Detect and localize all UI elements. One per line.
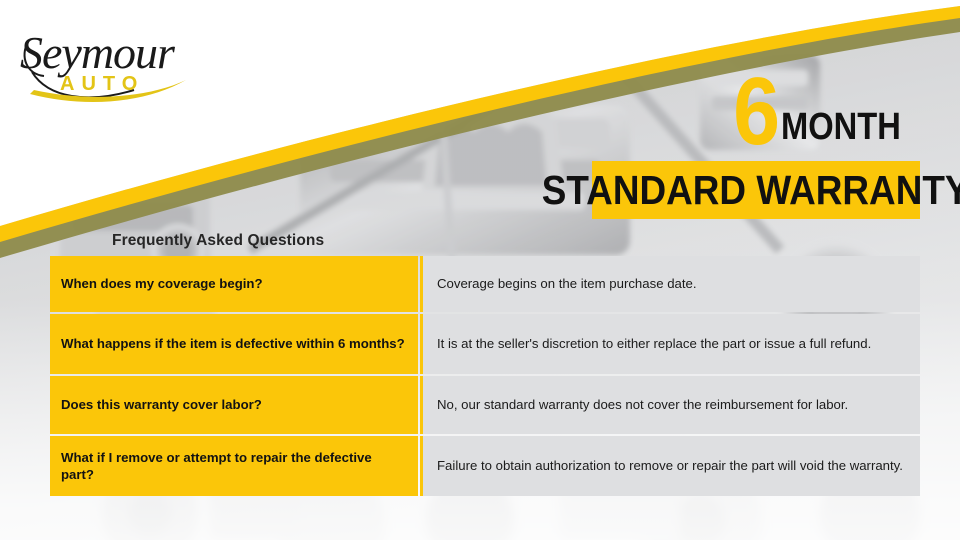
faq-question-cell: Does this warranty cover labor?	[50, 376, 418, 434]
faq-question-text: What happens if the item is defective wi…	[61, 335, 405, 352]
warranty-duration: 6 MONTH	[592, 62, 920, 154]
seymour-auto-logo: Seymour AUTO	[14, 12, 204, 117]
faq-answer-cell: It is at the seller's discretion to eith…	[420, 314, 920, 374]
faq-question-text: What if I remove or attempt to repair th…	[61, 449, 407, 484]
standard-warranty-label: STANDARD WARRANTY	[542, 167, 960, 214]
table-row: Does this warranty cover labor? No, our …	[50, 376, 920, 434]
table-row: What if I remove or attempt to repair th…	[50, 436, 920, 496]
warranty-period-label: MONTH	[781, 108, 901, 146]
svg-text:AUTO: AUTO	[60, 73, 144, 95]
standard-warranty-banner: STANDARD WARRANTY	[592, 161, 920, 219]
faq-table: When does my coverage begin? Coverage be…	[50, 256, 920, 496]
faq-answer-text: It is at the seller's discretion to eith…	[437, 335, 907, 354]
faq-question-text: Does this warranty cover labor?	[61, 396, 262, 413]
faq-heading: Frequently Asked Questions	[112, 232, 324, 250]
faq-answer-text: Failure to obtain authorization to remov…	[437, 457, 907, 476]
svg-text:Seymour: Seymour	[20, 27, 176, 78]
table-row: When does my coverage begin? Coverage be…	[50, 256, 920, 312]
faq-question-cell: What happens if the item is defective wi…	[50, 314, 418, 374]
faq-answer-text: Coverage begins on the item purchase dat…	[437, 275, 907, 294]
faq-answer-text: No, our standard warranty does not cover…	[437, 396, 907, 415]
faq-answer-cell: No, our standard warranty does not cover…	[420, 376, 920, 434]
faq-answer-cell: Failure to obtain authorization to remov…	[420, 436, 920, 496]
faq-question-cell: When does my coverage begin?	[50, 256, 418, 312]
faq-answer-cell: Coverage begins on the item purchase dat…	[420, 256, 920, 312]
slide-canvas: Seymour AUTO 6 MONTH STANDARD WARRANTY F…	[0, 0, 960, 540]
faq-question-cell: What if I remove or attempt to repair th…	[50, 436, 418, 496]
table-row: What happens if the item is defective wi…	[50, 314, 920, 374]
faq-question-text: When does my coverage begin?	[61, 275, 263, 292]
warranty-headline: 6 MONTH STANDARD WARRANTY	[592, 62, 920, 219]
warranty-number: 6	[733, 70, 778, 154]
